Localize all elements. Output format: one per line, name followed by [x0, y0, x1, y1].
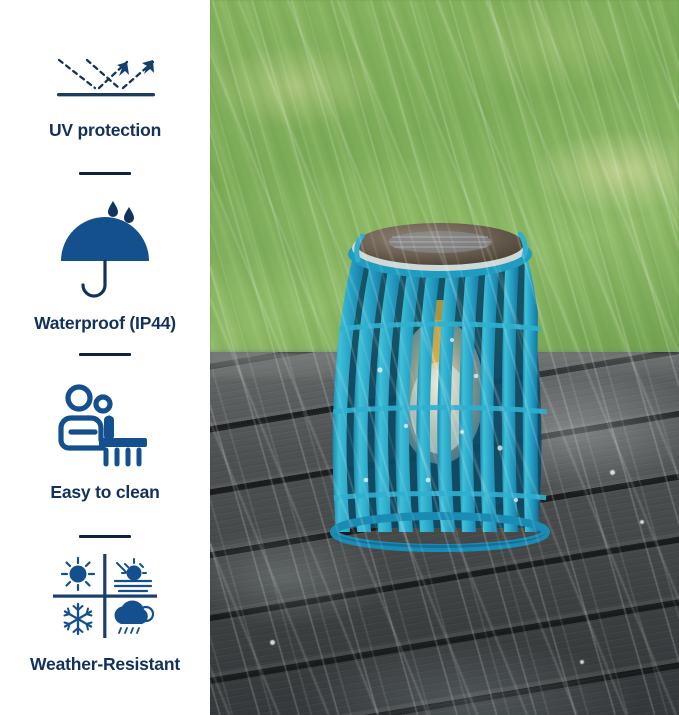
- feature-weather-resistant: Weather-Resistant: [0, 550, 210, 675]
- deck-splash-1: [610, 470, 615, 475]
- feature-panel: UV protection Waterproof (IP44): [0, 0, 210, 715]
- uv-rays-reflecting-icon: [43, 48, 167, 106]
- feature-label-weather-resistant: Weather-Resistant: [30, 654, 180, 675]
- rain-streaks-secondary: [210, 0, 679, 715]
- deck-splash-4: [580, 660, 584, 664]
- deck-splash-3: [270, 640, 275, 645]
- divider-1: [79, 172, 131, 175]
- feature-label-uv-protection: UV protection: [49, 120, 161, 141]
- hand-with-scrub-brush-icon: [53, 378, 157, 468]
- product-photo: [210, 0, 679, 715]
- feature-label-easy-to-clean: Easy to clean: [50, 482, 159, 503]
- deck-splash-5: [460, 430, 464, 434]
- divider-2: [79, 353, 131, 356]
- infographic-page: UV protection Waterproof (IP44): [0, 0, 679, 715]
- feature-label-waterproof: Waterproof (IP44): [34, 313, 176, 334]
- divider-3: [79, 535, 131, 538]
- deck-splash-2: [640, 520, 644, 524]
- feature-waterproof: Waterproof (IP44): [0, 195, 210, 334]
- four-weather-quadrant-icon: [45, 550, 165, 642]
- umbrella-with-raindrops-icon: [49, 195, 161, 301]
- feature-easy-to-clean: Easy to clean: [0, 378, 210, 503]
- feature-uv-protection: UV protection: [0, 48, 210, 141]
